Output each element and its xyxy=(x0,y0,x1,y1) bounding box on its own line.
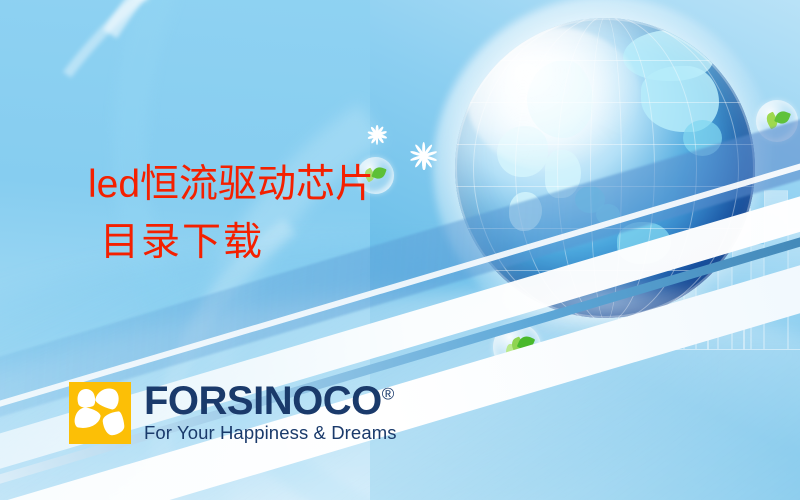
flower-sparkle-small xyxy=(366,124,388,146)
logo-text-block: FORSINOCO® For Your Happiness & Dreams xyxy=(144,382,397,444)
promo-banner: led恒流驱动芯片 目录下载 FORSINOCO® For Your Happi… xyxy=(0,0,800,500)
headline-line-2: 目录下载 xyxy=(100,223,374,263)
company-logo[interactable]: FORSINOCO® For Your Happiness & Dreams xyxy=(69,382,397,444)
logo-wordmark-text: FORSINOCO xyxy=(144,379,382,423)
flower-sparkle-large xyxy=(410,142,438,170)
headline: led恒流驱动芯片 目录下载 xyxy=(88,165,374,263)
logo-wordmark: FORSINOCO® xyxy=(144,382,397,420)
pinwheel-flower-icon xyxy=(69,382,131,444)
registered-trademark-icon: ® xyxy=(382,385,395,404)
logo-tagline: For Your Happiness & Dreams xyxy=(144,422,397,444)
headline-line-1: led恒流驱动芯片 xyxy=(88,165,374,205)
